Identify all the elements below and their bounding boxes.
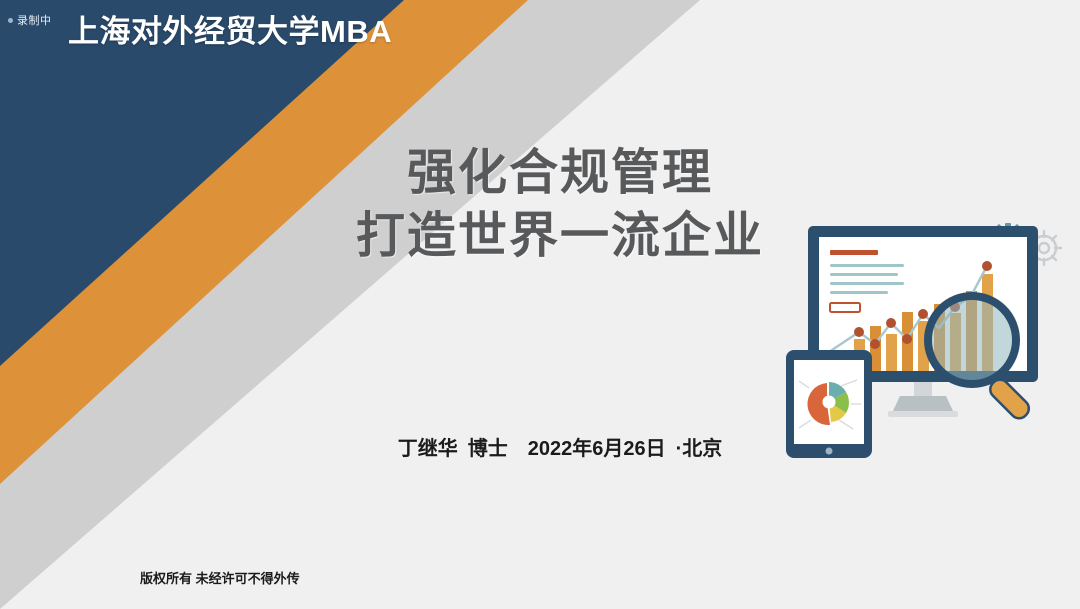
page-title: 强化合规管理 打造世界一流企业	[255, 142, 865, 267]
presentation-slide: 录制中 上海对外经贸大学MBA 强化合规管理 打造世界一流企业 丁继华博士202…	[0, 0, 1080, 609]
record-dot-icon	[8, 18, 13, 23]
recording-indicator: 录制中	[8, 12, 52, 28]
byline: 丁继华博士2022年6月26日·北京	[255, 432, 865, 461]
university-brand-title: 上海对外经贸大学MBA	[68, 6, 392, 51]
byline-author: 丁继华	[398, 438, 458, 460]
recording-label: 录制中	[17, 12, 52, 28]
title-line-1: 强化合规管理	[255, 142, 865, 205]
byline-degree: 博士	[468, 438, 508, 460]
title-line-2: 打造世界一流企业	[255, 205, 865, 268]
copyright-notice: 版权所有 未经许可不得外传	[140, 568, 300, 587]
byline-location: ·北京	[676, 438, 723, 460]
byline-date: 2022年6月26日	[528, 438, 666, 460]
monitor-stand	[888, 378, 958, 417]
